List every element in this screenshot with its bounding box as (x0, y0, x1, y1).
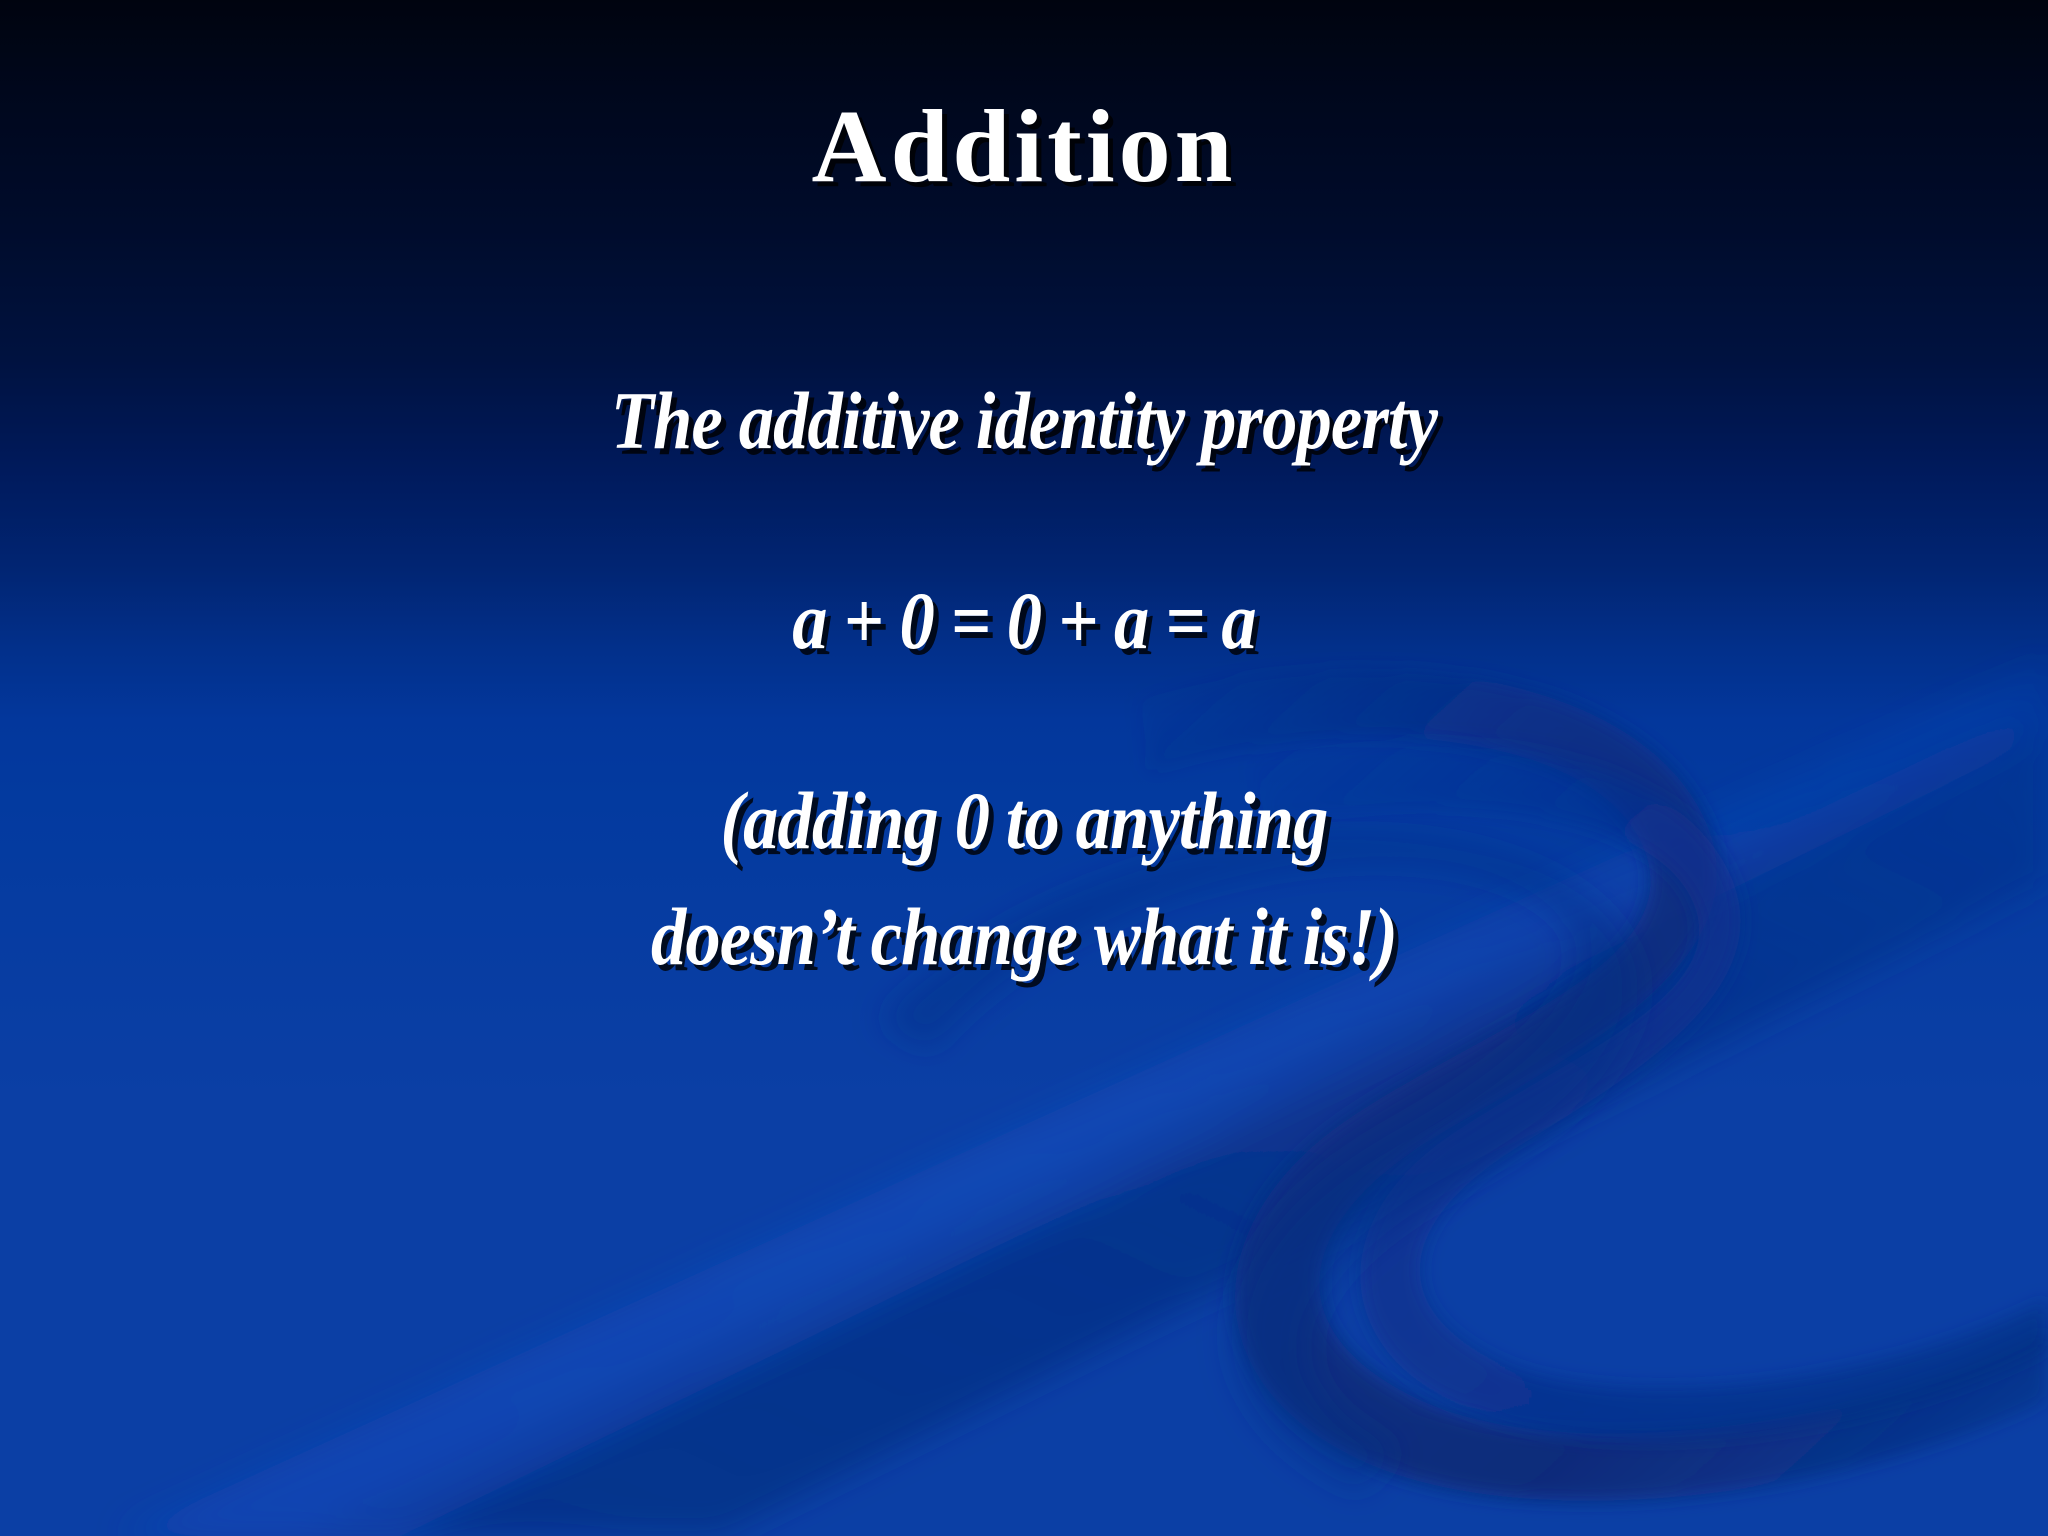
body-spacer-2 (244, 662, 1804, 780)
body-line-explanation-1: (adding 0 to anything (353, 780, 1695, 862)
slide-title: Addition (0, 92, 2048, 201)
body-line-identity-equation: a + 0 = 0 + a = a (353, 580, 1695, 662)
body-line-additive-identity-property: The additive identity property (353, 368, 1695, 462)
body-line-explanation-2: doesn’t change what it is!) (353, 896, 1695, 978)
presentation-slide: Addition The additive identity property … (0, 0, 2048, 1536)
slide-body: The additive identity property a + 0 = 0… (244, 368, 1804, 978)
body-spacer-1 (244, 462, 1804, 580)
